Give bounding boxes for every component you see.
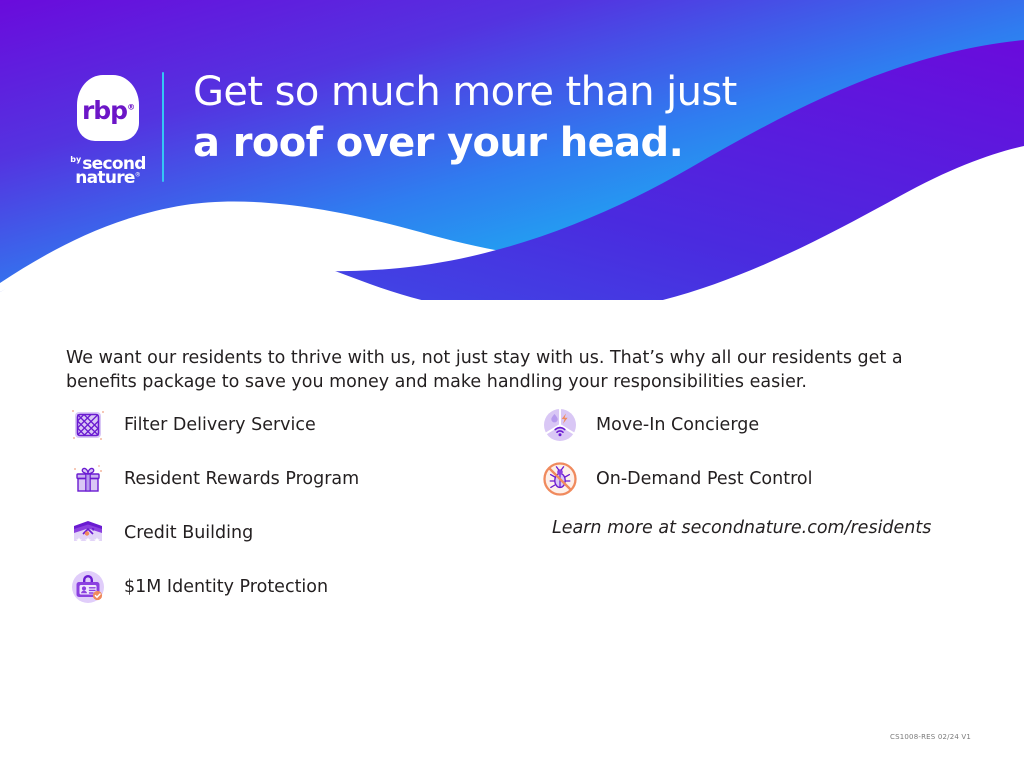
benefits-column-right: Move-In Concierge On-Dem [538, 398, 968, 538]
benefit-item-move-in-concierge: Move-In Concierge [538, 398, 968, 452]
benefit-label: $1M Identity Protection [124, 577, 328, 597]
benefit-item-pest-control: On-Demand Pest Control [538, 452, 968, 506]
rbp-logo: rbp® bysecond nature® [58, 66, 158, 188]
benefit-item-credit-building: Credit Building [66, 506, 506, 560]
benefit-label: Credit Building [124, 523, 253, 543]
logo-rbp-text: rbp® [82, 98, 134, 123]
benefit-label: Filter Delivery Service [124, 415, 316, 435]
logo-company-line2: nature [75, 168, 135, 188]
gift-box-icon [66, 457, 110, 501]
header-divider [162, 72, 164, 182]
intro-paragraph: We want our residents to thrive with us,… [66, 346, 941, 396]
benefits-column-left: Filter Delivery Service Resident Rewards… [66, 398, 506, 614]
logo-company-trademark: ® [135, 172, 141, 179]
logo-by-label: by [70, 155, 81, 164]
no-pest-icon [538, 457, 582, 501]
learn-more-text: Learn more at secondnature.com/residents [552, 518, 968, 538]
headline: Get so much more than just a roof over y… [193, 72, 737, 163]
benefit-label: Resident Rewards Program [124, 469, 359, 489]
benefit-item-identity-protection: $1M Identity Protection [66, 560, 506, 614]
headline-line-1: Get so much more than just [193, 72, 737, 112]
benefit-item-resident-rewards-program: Resident Rewards Program [66, 452, 506, 506]
logo-badge-shape: rbp® [77, 75, 139, 141]
headline-line-2: a roof over your head. [193, 123, 737, 163]
logo-byline: bysecond nature® [58, 156, 158, 187]
benefit-label: Move-In Concierge [596, 415, 759, 435]
utilities-circle-icon [538, 403, 582, 447]
air-filter-icon [66, 403, 110, 447]
credit-badge-icon [66, 511, 110, 555]
benefit-item-filter-delivery-service: Filter Delivery Service [66, 398, 506, 452]
id-briefcase-icon [66, 565, 110, 609]
benefit-label: On-Demand Pest Control [596, 469, 812, 489]
logo-mark: rbp® [66, 66, 150, 150]
document-code: CS1008-RES 02/24 V1 [890, 733, 971, 741]
